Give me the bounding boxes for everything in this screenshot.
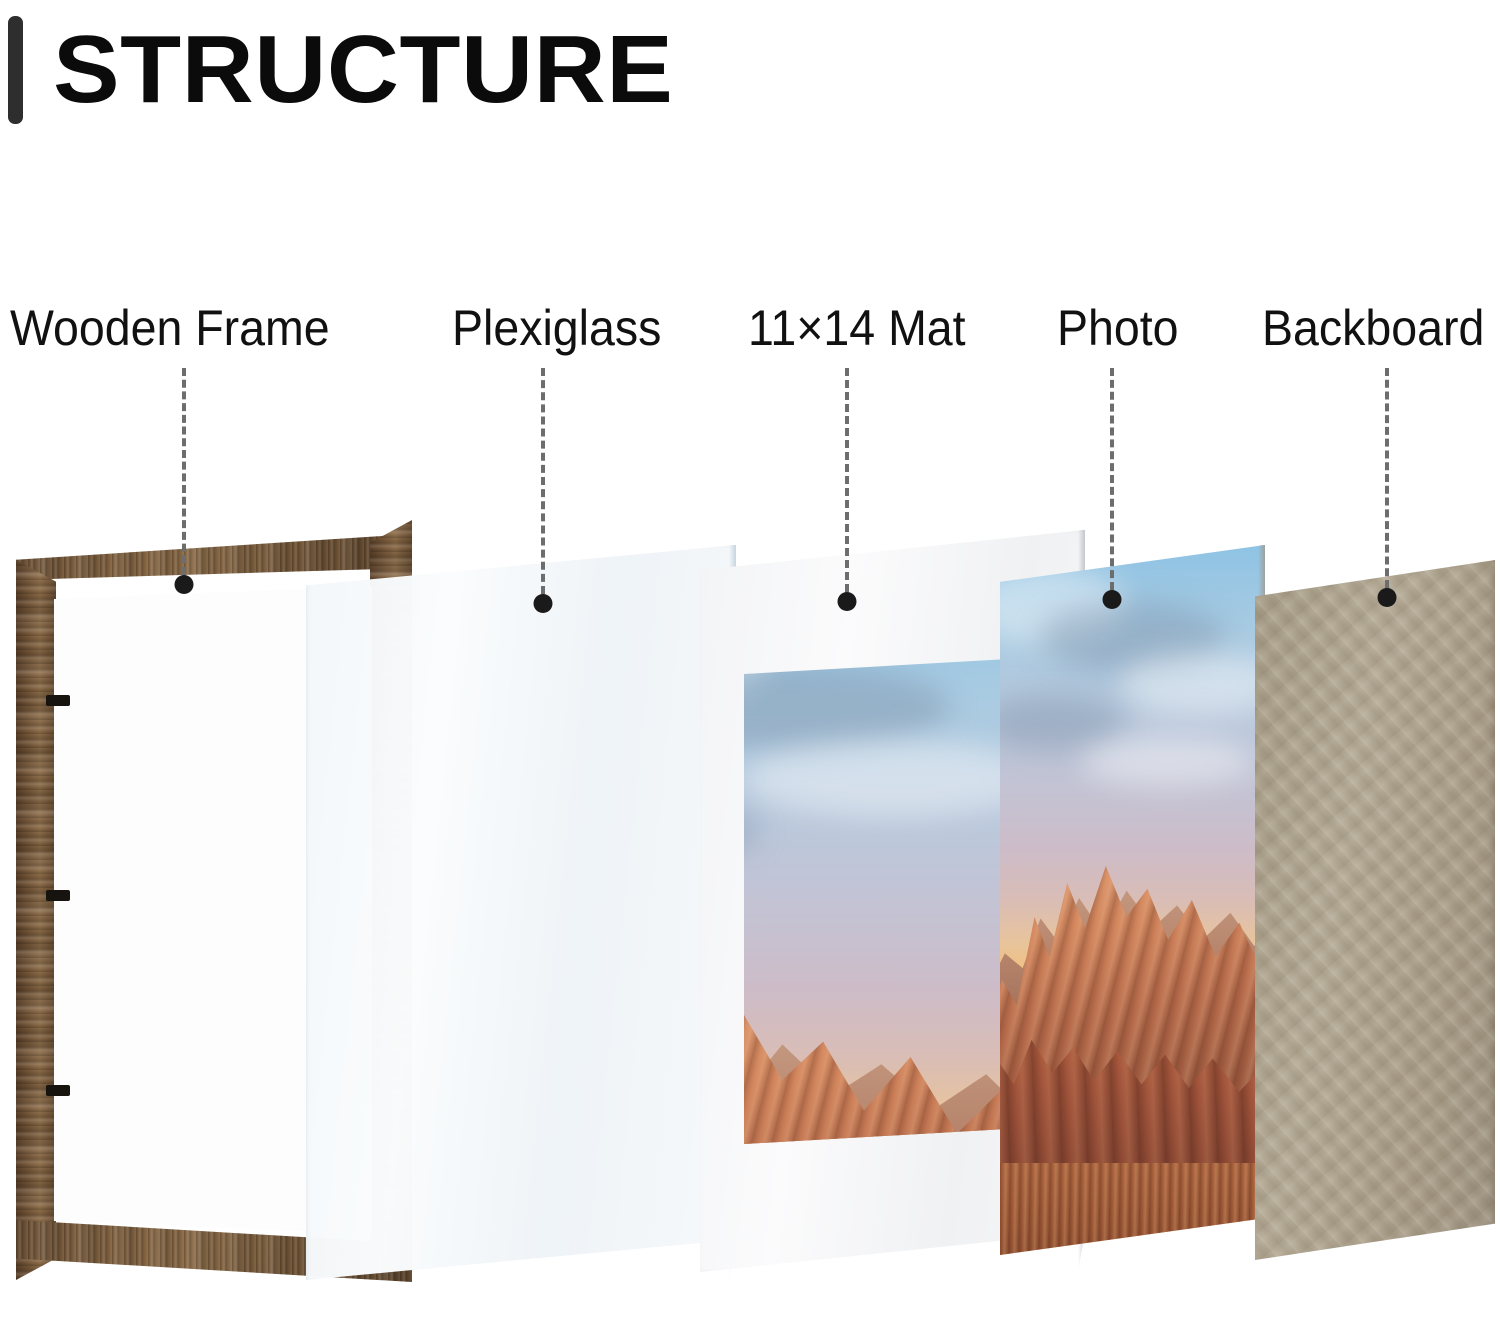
- valley-floor: [1000, 1163, 1265, 1255]
- leader-line-plexiglass: [541, 368, 545, 594]
- leader-dot-backboard: [1378, 588, 1397, 607]
- leader-line-wooden-frame: [182, 368, 186, 575]
- leader-line-photo: [1110, 368, 1114, 590]
- label-wooden-frame: Wooden Frame: [10, 303, 330, 353]
- mat-window-opening: [744, 657, 1043, 1144]
- photo-artwork: [1000, 545, 1265, 1255]
- backboard-panel: [1255, 560, 1495, 1260]
- frame-clip: [46, 695, 70, 706]
- label-mat: 11×14 Mat: [748, 303, 966, 353]
- frame-left-stile: [16, 560, 56, 1280]
- leader-line-mat: [845, 368, 849, 592]
- layer-photo: [1000, 545, 1265, 1255]
- photo-print: [1000, 545, 1265, 1255]
- leader-line-backboard: [1385, 368, 1389, 588]
- mat-window-photo-reveal: [744, 657, 1043, 1144]
- label-backboard: Backboard: [1262, 303, 1484, 353]
- frame-clip: [46, 890, 70, 901]
- leader-dot-wooden-frame: [175, 575, 194, 594]
- label-plexiglass: Plexiglass: [452, 303, 661, 353]
- exploded-layer-diagram: [0, 0, 1500, 1320]
- photo-artwork-reveal: [744, 657, 1043, 1144]
- layer-backboard: [1255, 560, 1495, 1260]
- leader-dot-mat: [838, 592, 857, 611]
- layer-plexiglass: [306, 545, 736, 1280]
- label-photo: Photo: [1057, 303, 1179, 353]
- frame-clip: [46, 1085, 70, 1096]
- leader-dot-plexiglass: [534, 594, 553, 613]
- leader-dot-photo: [1103, 590, 1122, 609]
- plexiglass-sheet: [306, 545, 736, 1280]
